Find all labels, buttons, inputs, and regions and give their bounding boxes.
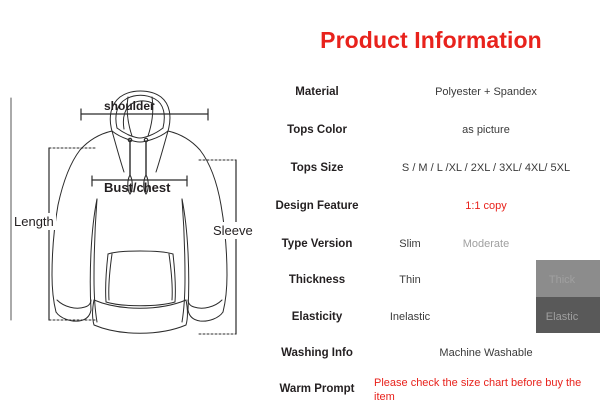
- row-label-washing-info: Washing Info: [262, 334, 372, 372]
- measurement-label-shoulder: shoulder: [104, 99, 155, 113]
- row-value-warm-prompt: Please check the size chart before buy t…: [372, 370, 598, 408]
- measurement-label-bust-chest: Bust/chest: [104, 180, 170, 195]
- table-row-design-feature: Design Feature 1:1 copy: [262, 187, 600, 225]
- table-row-thickness: Thickness Thin Moderate Thick: [262, 261, 600, 299]
- table-row-material: Material Polyester + Spandex: [262, 73, 600, 111]
- row-value-design-feature: 1:1 copy: [372, 187, 600, 225]
- table-row-elasticity: Elasticity Inelastic Moderate Elastic: [262, 298, 600, 336]
- table-row-washing-info: Washing Info Machine Washable: [262, 334, 600, 372]
- product-information-panel: Product Information Material Polyester +…: [262, 0, 600, 406]
- option-label: Inelastic: [390, 311, 430, 323]
- table-row-tops-size: Tops Size S / M / L /XL / 2XL / 3XL/ 4XL…: [262, 149, 600, 187]
- option-elasticity-moderate[interactable]: Moderate: [448, 298, 524, 336]
- row-value-tops-color: as picture: [372, 111, 600, 149]
- row-value-washing-info: Machine Washable: [372, 334, 600, 372]
- measurement-label-sleeve: Sleeve: [211, 222, 255, 239]
- hoodie-size-diagram: shoulder Bust/chest Length Sleeve: [0, 0, 262, 406]
- option-thickness-moderate[interactable]: Moderate: [448, 261, 524, 299]
- option-label: Moderate: [463, 238, 509, 250]
- row-label-design-feature: Design Feature: [262, 187, 372, 225]
- row-label-warm-prompt: Warm Prompt: [262, 370, 372, 408]
- option-type-version-slim[interactable]: Slim: [372, 225, 448, 263]
- option-elasticity-inelastic[interactable]: Inelastic: [372, 298, 448, 336]
- row-label-material: Material: [262, 73, 372, 111]
- option-group-elasticity: Inelastic Moderate Elastic: [372, 298, 600, 336]
- row-label-thickness: Thickness: [262, 261, 372, 299]
- table-row-tops-color: Tops Color as picture: [262, 111, 600, 149]
- option-group-type-version: Slim Moderate Loose: [372, 225, 600, 263]
- option-group-thickness: Thin Moderate Thick: [372, 261, 600, 299]
- option-type-version-moderate[interactable]: Moderate: [448, 225, 524, 263]
- row-label-elasticity: Elasticity: [262, 298, 372, 336]
- table-row-type-version: Type Version Slim Moderate Loose: [262, 225, 600, 263]
- option-label: Thick: [549, 274, 575, 286]
- option-label: Moderate: [463, 274, 509, 286]
- page-title: Product Information: [262, 27, 600, 54]
- measurement-label-length: Length: [12, 213, 56, 230]
- option-label: Elastic: [546, 311, 578, 323]
- option-label: Moderate: [463, 311, 509, 323]
- row-label-type-version: Type Version: [262, 225, 372, 263]
- row-label-tops-size: Tops Size: [262, 149, 372, 187]
- option-label: Thin: [399, 274, 420, 286]
- option-label: Slim: [399, 238, 420, 250]
- hoodie-illustration: [0, 0, 262, 406]
- row-label-tops-color: Tops Color: [262, 111, 372, 149]
- table-row-warm-prompt: Warm Prompt Please check the size chart …: [262, 370, 600, 408]
- row-value-tops-size: S / M / L /XL / 2XL / 3XL/ 4XL/ 5XL: [372, 149, 600, 187]
- option-type-version-loose[interactable]: Loose: [524, 225, 600, 263]
- option-thickness-thin[interactable]: Thin: [372, 261, 448, 299]
- row-value-material: Polyester + Spandex: [372, 73, 600, 111]
- option-label: Loose: [547, 238, 577, 250]
